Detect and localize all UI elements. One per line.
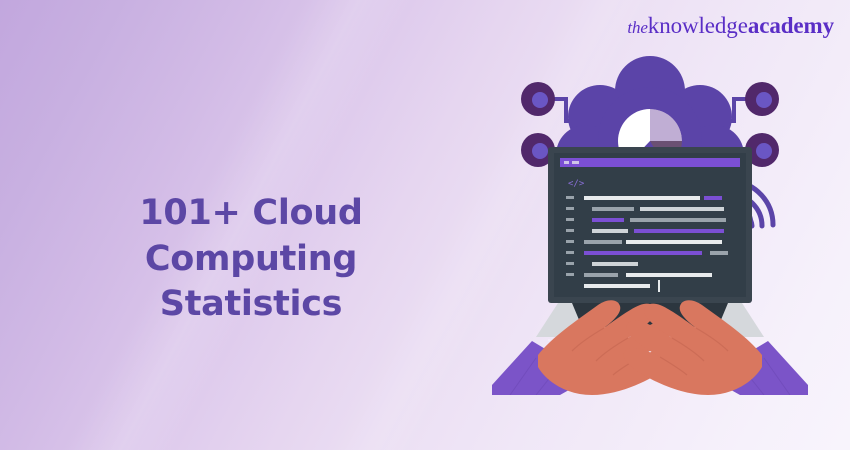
brand-logo[interactable]: theknowledgeacademy	[627, 14, 834, 37]
node-top-right	[745, 82, 779, 116]
page-title-line-1: 101+ Cloud Computing	[139, 193, 362, 279]
code-icon: </>	[568, 179, 585, 189]
page-title-line-2: Statistics	[36, 282, 466, 328]
page-title: 101+ Cloud Computing Statistics	[36, 191, 466, 328]
banner: theknowledgeacademy 101+ Cloud Computing…	[0, 0, 850, 450]
screen-title-bar	[560, 158, 740, 167]
node-top-left	[521, 82, 555, 116]
logo-text-academy: academy	[748, 13, 834, 38]
hands	[492, 300, 808, 395]
logo-text-knowledge: knowledge	[648, 13, 748, 38]
logo-text-the: the	[627, 18, 647, 37]
cloud-computing-illustration: </>	[480, 55, 820, 395]
